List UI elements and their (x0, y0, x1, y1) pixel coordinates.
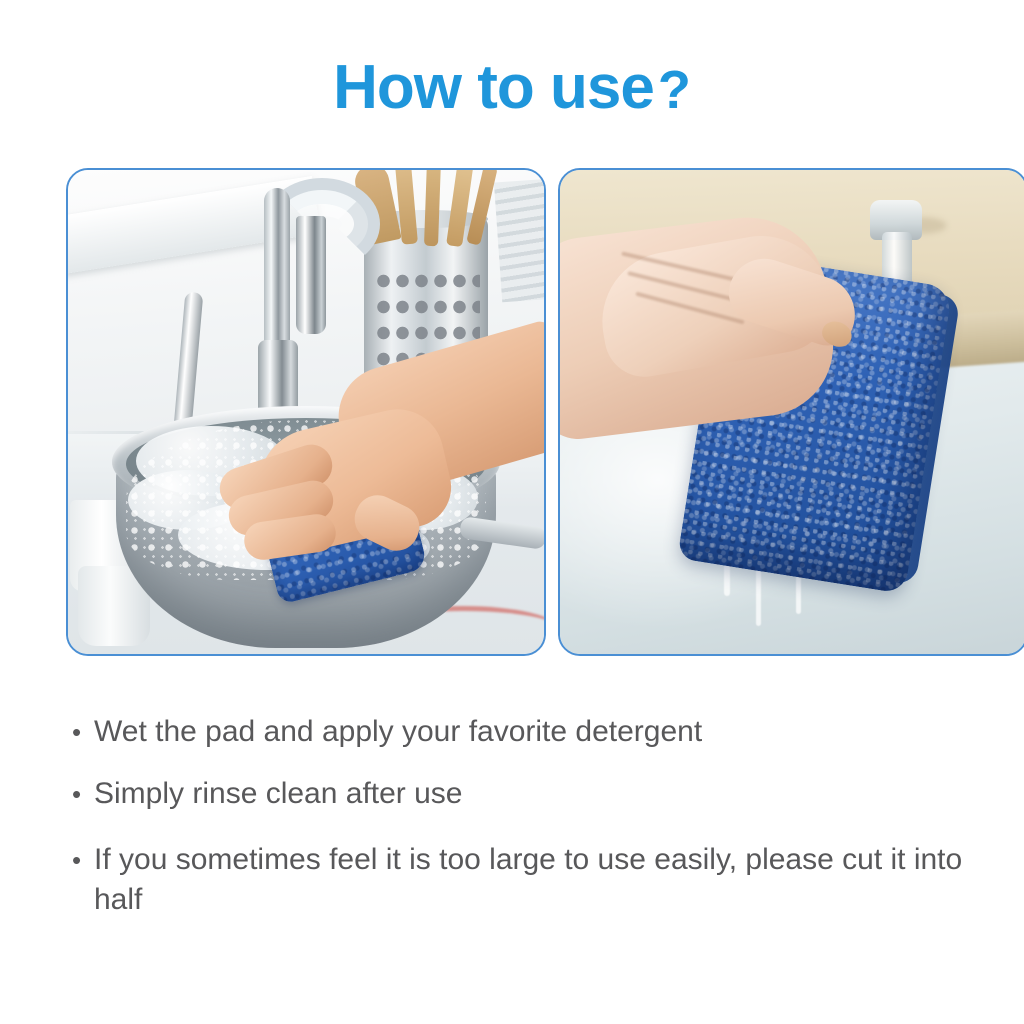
instruction-text: Simply rinse clean after use (94, 774, 988, 814)
page-title-question-mark: ? (658, 60, 691, 120)
list-item: • Simply rinse clean after use (72, 774, 988, 814)
list-item: • Wet the pad and apply your favorite de… (72, 712, 988, 752)
faucet-downpipe (296, 216, 326, 334)
sponge-rinsing-photo (558, 168, 1024, 656)
list-item: • If you sometimes feel it is too large … (72, 840, 988, 920)
page-title: How to use? (0, 52, 1024, 123)
bullet-dot-icon: • (72, 774, 94, 814)
sponge-washing-pot-photo (66, 168, 546, 656)
bullet-dot-icon: • (72, 840, 94, 880)
faucet-spout (264, 188, 290, 348)
bullet-dot-icon: • (72, 712, 94, 752)
instruction-text: Wet the pad and apply your favorite dete… (94, 712, 988, 752)
instruction-list: • Wet the pad and apply your favorite de… (72, 712, 988, 920)
sink-rinse-scene (560, 170, 1024, 654)
kitchen-sink-scene (68, 170, 544, 654)
instruction-text: If you sometimes feel it is too large to… (94, 840, 988, 920)
page-title-text: How to use (333, 53, 654, 122)
dish-rack (494, 178, 544, 303)
